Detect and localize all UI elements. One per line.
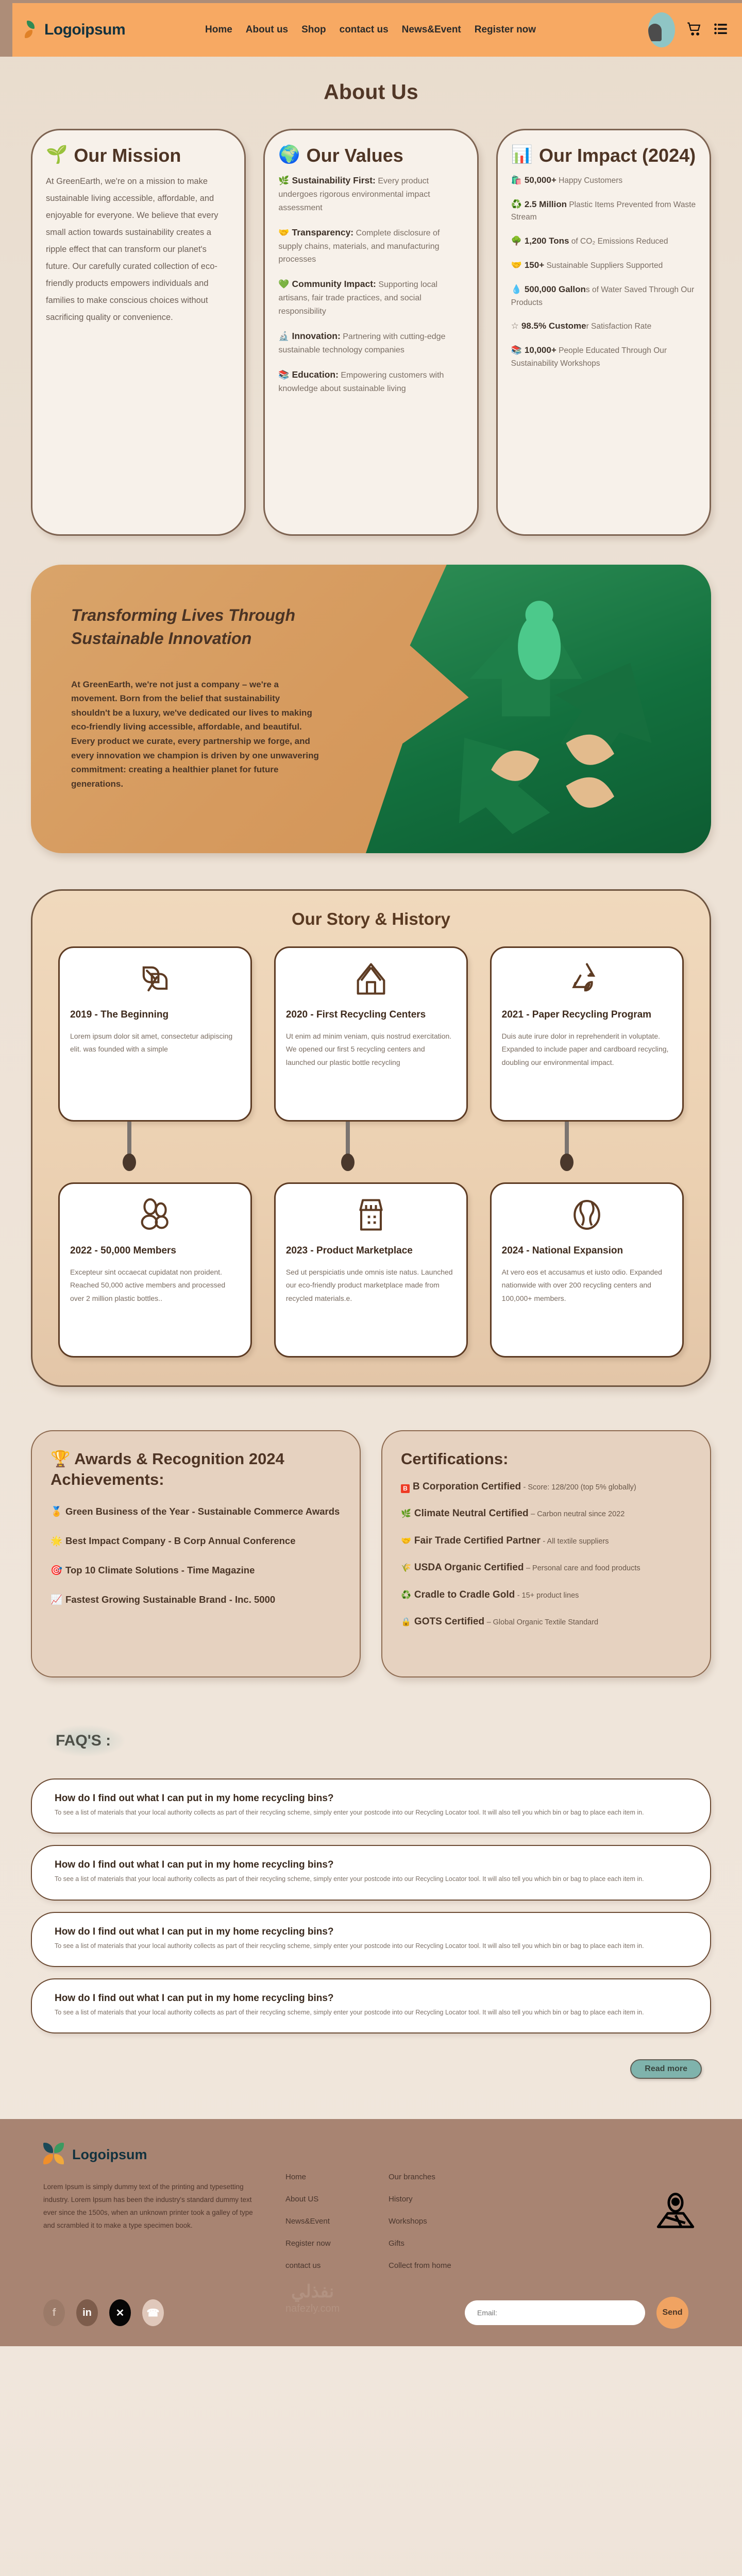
awards-panel: 🏆 Awards & Recognition 2024 Achievements… [31, 1430, 361, 1677]
timeline-heading: 2021 - Paper Recycling Program [502, 1008, 672, 1023]
faq-item[interactable]: How do I find out what I can put in my h… [31, 1845, 711, 1900]
hamburger-menu-icon[interactable] [713, 22, 729, 39]
timeline-heading: 2020 - First Recycling Centers [286, 1008, 456, 1023]
award-text: Fastest Growing Sustainable Brand - Inc.… [65, 1594, 275, 1605]
seedling-icon: 🌱 [46, 146, 68, 163]
brand-logo[interactable]: Logoipsum [23, 20, 177, 40]
values-item: 💚Community Impact: Supporting local arti… [278, 277, 463, 318]
impact-item-text: Happy Customers [559, 176, 622, 185]
values-card: 🌍 Our Values 🌿Sustainability First: Ever… [263, 129, 478, 536]
shop-icon [286, 1195, 456, 1234]
values-item-label: Sustainability First: [292, 175, 376, 185]
impact-item: 🛍️50,000+ Happy Customers [511, 173, 696, 188]
certification-label: B Corporation Certified [413, 1481, 521, 1492]
values-item: 🌿Sustainability First: Every product und… [278, 173, 463, 215]
facebook-icon[interactable]: f [43, 2299, 65, 2326]
certification-item: 🔒GOTS Certified – Global Organic Textile… [401, 1615, 692, 1630]
footer-link-news-event[interactable]: News&Event [285, 2217, 389, 2226]
impact-item: 💧500,000 Gallons of Water Saved Through … [511, 282, 696, 310]
star-icon: ☆ [511, 321, 519, 331]
bcorp-badge-icon: B [401, 1484, 410, 1493]
timeline-text: Lorem ipsum dolor sit amet, consectetur … [70, 1030, 240, 1057]
certification-label: USDA Organic Certified [414, 1562, 524, 1573]
footer-link-home[interactable]: Home [285, 2173, 389, 2181]
chart-increasing-icon: 📈 [50, 1594, 62, 1605]
certification-sub: – Personal care and food products [526, 1564, 640, 1572]
timeline-text: Excepteur sint occaecat cupidatat non pr… [70, 1266, 240, 1306]
awards-certifications-row: 🏆 Awards & Recognition 2024 Achievements… [0, 1387, 742, 1677]
logo-mark-icon [23, 20, 40, 40]
watermark-arabic: نفذلي [285, 2281, 340, 2302]
nav-links: Home About us Shop contact us News&Event… [205, 24, 648, 36]
herb-icon: 🌿 [401, 1510, 411, 1518]
award-item: 🎯Top 10 Climate Solutions - Time Magazin… [50, 1564, 341, 1578]
about-us-page: Logoipsum Home About us Shop contact us … [0, 0, 742, 2576]
footer-link-about-us[interactable]: About US [285, 2195, 389, 2204]
map-icon [652, 2143, 699, 2283]
nav-link-register-now[interactable]: Register now [475, 24, 536, 36]
hero-banner-wrapper: Transforming Lives Through Sustainable I… [0, 536, 742, 853]
impact-item: ☆98.5% Customer Satisfaction Rate [511, 319, 696, 333]
footer-link-gifts[interactable]: Gifts [389, 2239, 492, 2248]
certification-sub: - All textile suppliers [543, 1537, 609, 1546]
faq-item[interactable]: How do I find out what I can put in my h… [31, 1978, 711, 2033]
footer-link-contact-us[interactable]: contact us [285, 2261, 389, 2270]
impact-item-value: 98.5% Custome [521, 321, 586, 331]
hero-banner: Transforming Lives Through Sustainable I… [31, 565, 711, 853]
certification-item: BB Corporation Certified - Score: 128/20… [401, 1480, 692, 1495]
nav-right-actions [648, 12, 729, 47]
recycle-icon: ♻️ [401, 1591, 411, 1600]
footer-link-our-branches[interactable]: Our branches [389, 2173, 492, 2181]
faq-question: How do I find out what I can put in my h… [55, 1926, 687, 1938]
target-icon: 🎯 [50, 1565, 62, 1575]
timeline-row-2: 2022 - 50,000 Members Excepteur sint occ… [58, 1182, 684, 1358]
timeline-text: Sed ut perspiciatis unde omnis iste natu… [286, 1266, 456, 1306]
hero-paragraph: At GreenEarth, we're not just a company … [71, 677, 319, 791]
handshake-icon: 🤝 [278, 228, 289, 238]
footer-brand[interactable]: Logoipsum [43, 2143, 285, 2166]
certification-sub: - Score: 128/200 (top 5% globally) [524, 1483, 636, 1492]
medal-icon: 🏅 [50, 1506, 62, 1517]
timeline-card: 2019 - The Beginning Lorem ipsum dolor s… [58, 946, 252, 1122]
timeline-heading: 2023 - Product Marketplace [286, 1244, 456, 1259]
footer-brand-name: Logoipsum [72, 2147, 147, 2163]
timeline-text: Duis aute irure dolor in reprehenderit i… [502, 1030, 672, 1070]
timeline-row-1: 2019 - The Beginning Lorem ipsum dolor s… [58, 946, 684, 1122]
globe-icon [502, 1195, 672, 1234]
globe-icon: 🌍 [278, 146, 300, 163]
impact-item: 📚10,000+ People Educated Through Our Sus… [511, 343, 696, 370]
impact-title: Our Impact (2024) [539, 146, 696, 166]
nav-link-home[interactable]: Home [205, 24, 232, 36]
story-section-wrapper: Our Story & History 2019 - The Beginning… [0, 853, 742, 1387]
newsletter-form: Send [465, 2297, 699, 2329]
footer-link-history[interactable]: History [389, 2195, 492, 2204]
watermark-latin: nafezly.com [285, 2303, 340, 2315]
mission-card-header: 🌱 Our Mission [46, 146, 231, 166]
faq-question: How do I find out what I can put in my h… [55, 1993, 687, 2004]
timeline-card: 2020 - First Recycling Centers Ut enim a… [274, 946, 468, 1122]
footer-top: Logoipsum Lorem Ipsum is simply dummy te… [43, 2143, 699, 2283]
timeline-card: 2022 - 50,000 Members Excepteur sint occ… [58, 1182, 252, 1358]
tree-icon: 🌳 [511, 236, 522, 246]
certification-item: 🌿Climate Neutral Certified – Carbon neut… [401, 1506, 692, 1521]
recycle-illustration-icon [406, 582, 684, 840]
footer-description: Lorem Ipsum is simply dummy text of the … [43, 2181, 260, 2232]
handshake-icon: 🤝 [401, 1537, 411, 1546]
story-section: Our Story & History 2019 - The Beginning… [31, 889, 711, 1387]
certification-sub: – Carbon neutral since 2022 [531, 1510, 625, 1518]
lock-icon: 🔒 [401, 1618, 411, 1626]
faq-title: FAQ'S : [46, 1725, 125, 1757]
hero-title: Transforming Lives Through Sustainable I… [71, 604, 319, 651]
timeline-card: 2021 - Paper Recycling Program Duis aute… [490, 946, 684, 1122]
recycle-icon: ♻️ [511, 199, 522, 209]
impact-item-value: 1,200 Tons [525, 236, 569, 246]
info-cards-row: 🌱 Our Mission At GreenEarth, we're on a … [0, 104, 742, 536]
story-title: Our Story & History [58, 909, 684, 929]
grain-icon: 🌾 [401, 1564, 411, 1572]
certifications-list: BB Corporation Certified - Score: 128/20… [401, 1480, 692, 1630]
impact-item-text: of CO₂ Emissions Reduced [571, 237, 668, 246]
award-item: 📈Fastest Growing Sustainable Brand - Inc… [50, 1593, 341, 1607]
certification-label: Fair Trade Certified Partner [414, 1535, 541, 1546]
linkedin-icon[interactable]: in [76, 2299, 98, 2326]
recycle-leaf-icon [502, 959, 672, 998]
values-item: 🤝Transparency: Complete disclosure of su… [278, 225, 463, 267]
certification-label: Climate Neutral Certified [414, 1508, 529, 1519]
awards-title-text: Awards & Recognition 2024 Achievements: [50, 1450, 284, 1488]
timeline-text: Ut enim ad minim veniam, quis nostrud ex… [286, 1030, 456, 1070]
footer-link-workshops[interactable]: Workshops [389, 2217, 492, 2226]
timeline-text: At vero eos et accusamus et iusto odio. … [502, 1266, 672, 1306]
timeline-heading: 2022 - 50,000 Members [70, 1244, 240, 1259]
nav-link-news-event[interactable]: News&Event [402, 24, 461, 36]
values-card-header: 🌍 Our Values [278, 146, 463, 166]
award-item: 🌟Best Impact Company - B Corp Annual Con… [50, 1534, 341, 1548]
impact-item-value: 2.5 Million [525, 199, 567, 209]
certification-label: Cradle to Cradle Gold [414, 1589, 515, 1600]
impact-item: 🤝150+ Sustainable Suppliers Supported [511, 258, 696, 273]
timeline-card: 2024 - National Expansion At vero eos et… [490, 1182, 684, 1358]
faq-question: How do I find out what I can put in my h… [55, 1793, 687, 1804]
mission-title: Our Mission [74, 146, 181, 166]
faq-item[interactable]: How do I find out what I can put in my h… [31, 1912, 711, 1967]
people-icon [70, 1195, 240, 1234]
footer-links-column-1: Home About US News&Event Register now co… [285, 2143, 389, 2283]
whatsapp-icon[interactable]: ☎ [142, 2299, 164, 2326]
house-icon [286, 959, 456, 998]
certification-sub: – Global Organic Textile Standard [487, 1618, 599, 1626]
footer-link-register-now[interactable]: Register now [285, 2239, 389, 2248]
impact-list: 🛍️50,000+ Happy Customers ♻️2.5 Million … [511, 173, 696, 370]
award-item: 🏅Green Business of the Year - Sustainabl… [50, 1505, 341, 1519]
award-text: Green Business of the Year - Sustainable… [65, 1506, 340, 1517]
brand-name: Logoipsum [44, 21, 125, 39]
nav-bar-wrapper: Logoipsum Home About us Shop contact us … [0, 0, 742, 57]
footer-logo-mark-icon [43, 2143, 67, 2166]
nav-link-contact-us[interactable]: contact us [340, 24, 389, 36]
hero-text-block: Transforming Lives Through Sustainable I… [31, 565, 319, 791]
values-item: 🔬Innovation: Partnering with cutting-edg… [278, 329, 463, 357]
nav-link-shop[interactable]: Shop [301, 24, 326, 36]
award-text: Top 10 Climate Solutions - Time Magazine [65, 1565, 255, 1575]
microscope-icon: 🔬 [278, 331, 289, 341]
read-more-row: Read more [0, 2045, 742, 2079]
avatar[interactable] [648, 12, 675, 47]
values-item-label: Transparency: [292, 227, 354, 238]
impact-item-value: 150+ [525, 260, 544, 270]
footer-bottom: f in ✕ ☎ نفذلي nafezly.com Send [43, 2283, 699, 2346]
timeline-card: 2023 - Product Marketplace Sed ut perspi… [274, 1182, 468, 1358]
impact-item-value: 500,000 Gallon [525, 284, 586, 294]
certification-item: 🌾USDA Organic Certified – Personal care … [401, 1561, 692, 1575]
star-burst-icon: 🌟 [50, 1535, 62, 1546]
impact-item-value: 50,000+ [525, 175, 556, 185]
faq-answer: To see a list of materials that your loc… [55, 1874, 687, 1885]
impact-item-value: 10,000+ [525, 345, 556, 355]
trophy-icon: 🏆 [50, 1450, 71, 1468]
leaf-icon [70, 959, 240, 998]
watermark: نفذلي nafezly.com [285, 2281, 340, 2315]
faq-answer: To see a list of materials that your loc… [55, 2007, 687, 2018]
impact-item: ♻️2.5 Million Plastic Items Prevented fr… [511, 197, 696, 225]
certification-sub: - 15+ product lines [517, 1591, 579, 1600]
impact-item-text: Sustainable Suppliers Supported [546, 261, 663, 270]
footer-link-collect-from-home[interactable]: Collect from home [389, 2261, 492, 2270]
impact-card: 📊 Our Impact (2024) 🛍️50,000+ Happy Cust… [496, 129, 711, 536]
timeline-connectors [58, 1122, 684, 1182]
awards-list: 🏅Green Business of the Year - Sustainabl… [50, 1505, 341, 1606]
values-item-label: Education: [292, 369, 339, 380]
values-title: Our Values [307, 146, 403, 166]
faq-answer: To see a list of materials that your loc… [55, 1807, 687, 1818]
footer-brand-column: Logoipsum Lorem Ipsum is simply dummy te… [43, 2143, 285, 2283]
site-footer: Logoipsum Lorem Ipsum is simply dummy te… [0, 2119, 742, 2346]
values-item-label: Innovation: [292, 331, 341, 341]
newsletter-email-input[interactable] [465, 2300, 645, 2325]
certifications-title: Certifications: [401, 1449, 692, 1469]
faq-item[interactable]: How do I find out what I can put in my h… [31, 1778, 711, 1834]
mission-card: 🌱 Our Mission At GreenEarth, we're on a … [31, 129, 246, 536]
awards-title: 🏆 Awards & Recognition 2024 Achievements… [50, 1449, 341, 1489]
impact-item-text: r Satisfaction Rate [586, 322, 652, 331]
handshake-icon: 🤝 [511, 260, 522, 270]
values-item-label: Community Impact: [292, 279, 376, 289]
timeline-heading: 2019 - The Beginning [70, 1008, 240, 1023]
books-icon: 📚 [278, 370, 289, 380]
mission-body: At GreenEarth, we're on a mission to mak… [46, 173, 231, 326]
books-icon: 📚 [511, 345, 522, 355]
nav-link-about-us[interactable]: About us [246, 24, 288, 36]
newsletter-send-button[interactable]: Send [656, 2297, 688, 2329]
faq-section: FAQ'S : [0, 1677, 742, 1778]
page-title: About Us [0, 57, 742, 104]
main-navigation: Logoipsum Home About us Shop contact us … [12, 3, 742, 57]
water-drop-icon: 💧 [511, 284, 522, 294]
award-text: Best Impact Company - B Corp Annual Conf… [65, 1535, 295, 1546]
impact-card-header: 📊 Our Impact (2024) [511, 146, 696, 166]
herb-icon: 🌿 [278, 176, 289, 185]
shopping-bags-icon: 🛍️ [511, 175, 522, 185]
footer-links-column-2: Our branches History Workshops Gifts Col… [389, 2143, 492, 2283]
cart-icon[interactable] [685, 20, 703, 40]
green-heart-icon: 💚 [278, 279, 289, 289]
bar-chart-icon: 📊 [511, 146, 533, 163]
faq-answer: To see a list of materials that your loc… [55, 1941, 687, 1952]
certification-label: GOTS Certified [414, 1616, 484, 1627]
certification-item: 🤝Fair Trade Certified Partner - All text… [401, 1534, 692, 1549]
faq-question: How do I find out what I can put in my h… [55, 1859, 687, 1871]
read-more-button[interactable]: Read more [630, 2059, 702, 2079]
values-list: 🌿Sustainability First: Every product und… [278, 173, 463, 396]
certification-item: ♻️Cradle to Cradle Gold - 15+ product li… [401, 1588, 692, 1603]
values-item: 📚Education: Empowering customers with kn… [278, 367, 463, 396]
certifications-panel: Certifications: BB Corporation Certified… [381, 1430, 711, 1677]
x-twitter-icon[interactable]: ✕ [109, 2299, 131, 2326]
impact-item: 🌳1,200 Tons of CO₂ Emissions Reduced [511, 234, 696, 248]
timeline-heading: 2024 - National Expansion [502, 1244, 672, 1259]
